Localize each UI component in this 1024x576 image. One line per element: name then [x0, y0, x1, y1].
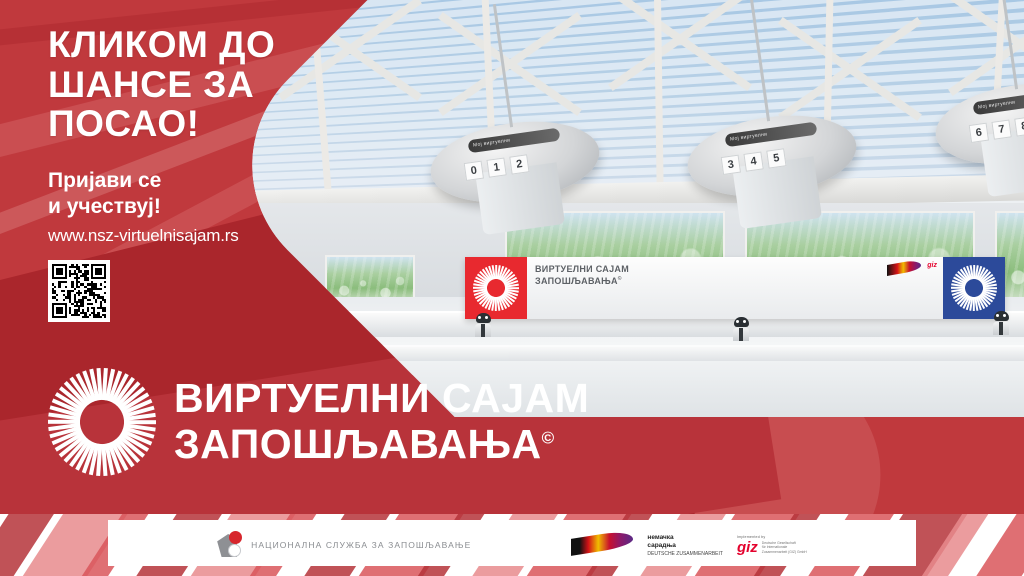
qr-module	[104, 316, 106, 318]
visitor-avatar[interactable]	[993, 311, 1009, 335]
qr-module	[63, 299, 65, 301]
sign-label-text: Мој виртуелни	[467, 128, 559, 150]
qr-module	[84, 292, 86, 294]
banner-partner-logos: giz	[887, 262, 937, 277]
qr-module	[63, 290, 65, 292]
exhibition-banner: ВИРТУЕЛНИ САЈАМ ЗАПОШЉАВАЊА© giz	[465, 257, 1005, 319]
sunburst-icon	[951, 265, 997, 311]
visitor-avatar[interactable]	[733, 317, 749, 341]
brand-name: ВИРТУЕЛНИ САЈАМ ЗАПОШЉАВАЊА©	[174, 376, 589, 468]
qr-module	[65, 316, 67, 318]
qr-code-matrix	[52, 264, 106, 318]
qr-module	[80, 292, 82, 294]
qr-module	[87, 273, 89, 275]
qr-module	[104, 277, 106, 279]
sign-label-text: Мој виртуелни	[972, 90, 1024, 112]
qr-module	[87, 309, 89, 311]
sign-label-text: Мој виртуелни	[724, 122, 816, 144]
banner-center: ВИРТУЕЛНИ САЈАМ ЗАПОШЉАВАЊА© giz	[527, 257, 943, 319]
qr-module	[104, 292, 106, 294]
qr-module	[84, 266, 86, 268]
banner-title: ВИРТУЕЛНИ САЈАМ ЗАПОШЉАВАЊА©	[535, 263, 935, 287]
sunburst-spoke	[951, 287, 965, 289]
qr-module	[61, 312, 63, 314]
sign-number[interactable]: 0	[464, 160, 484, 180]
banner-title-line2: ЗАПОШЉАВАЊА	[535, 276, 618, 286]
headline-line-1: КЛИКОМ ДО	[48, 25, 275, 65]
page-title: КЛИКОМ ДО ШАНСЕ ЗА ПОСАО!	[48, 25, 275, 144]
banner-blue-logo-tile	[943, 257, 1005, 319]
qr-module	[95, 301, 97, 303]
brand-copyright: ©	[542, 428, 555, 447]
subline-line-1: Пријави се	[48, 168, 161, 194]
qr-module	[65, 286, 67, 288]
qr-module	[69, 275, 71, 277]
qr-module	[104, 301, 106, 303]
sign-label-bar: Мој виртуелни	[972, 90, 1024, 116]
sign-number[interactable]: 3	[721, 154, 741, 174]
avatar-head	[475, 313, 490, 323]
qr-module	[78, 277, 80, 279]
sign-number[interactable]: 1	[486, 157, 506, 177]
sign-number[interactable]: 5	[766, 148, 786, 168]
sign-label-bar: Мој виртуелни	[724, 122, 817, 148]
qr-module	[78, 286, 80, 288]
qr-module	[89, 299, 91, 301]
qr-module	[74, 288, 76, 290]
avatar-body	[475, 324, 491, 337]
qr-module	[65, 277, 67, 279]
avatar-head	[994, 311, 1009, 321]
giz-wordmark-row: giz Deutsche Gesellschaft für Internatio…	[737, 540, 807, 555]
qr-module	[89, 314, 91, 316]
qr-module	[78, 294, 80, 296]
qr-module	[65, 281, 67, 283]
qr-module	[104, 309, 106, 311]
qr-module	[56, 294, 58, 296]
giz-wordmark: giz	[737, 540, 758, 555]
brand-lockup: ВИРТУЕЛНИ САЈАМ ЗАПОШЉАВАЊА©	[48, 368, 589, 476]
footer-bar: НАЦИОНАЛНА СЛУЖБА ЗА ЗАПОШЉАВАЊЕ немачка…	[0, 514, 1024, 576]
sunburst-icon	[48, 368, 156, 476]
avatar-head	[734, 317, 749, 327]
poster-root: Мој виртуелни 0 1 2 Мој виртуелни 3 4 5	[0, 0, 1024, 576]
giz-sub-1: Deutsche Gesellschaft	[762, 541, 796, 545]
giz-sub-3: Zusammenarbeit (GIZ) GmbH	[762, 550, 807, 554]
german-cooperation-caption: немачка сарадња DEUTSCHE ZUSAMMENARBEIT	[647, 534, 723, 557]
avatar-body	[993, 322, 1009, 335]
sign-number[interactable]: 7	[991, 119, 1011, 139]
subline-line-2: и учествуј!	[48, 194, 161, 220]
qr-module	[61, 273, 63, 275]
qr-module	[104, 281, 106, 283]
qr-module	[87, 316, 89, 318]
sunburst-spoke	[473, 287, 487, 289]
sunburst-spoke	[48, 420, 80, 424]
sign-number[interactable]: 2	[509, 154, 529, 174]
qr-module	[100, 316, 102, 318]
headline-line-3: ПОСАО!	[48, 104, 275, 144]
brand-line-2-wrap: ЗАПОШЉАВАЊА©	[174, 422, 589, 468]
qr-module	[71, 290, 73, 292]
giz-logo-mini: giz	[927, 262, 937, 269]
qr-module	[54, 286, 56, 288]
sign-number[interactable]: 4	[743, 151, 763, 171]
qr-module	[78, 314, 80, 316]
german-flag-swoosh-icon	[571, 532, 633, 558]
website-url[interactable]: www.nsz-virtuelnisajam.rs	[48, 226, 239, 246]
sunburst-spoke	[495, 297, 497, 311]
nsz-mark-icon	[217, 531, 243, 559]
sunburst-icon	[473, 265, 519, 311]
qr-module	[91, 303, 93, 305]
call-to-action-text: Пријави се и учествуј!	[48, 168, 161, 221]
brand-line-1: ВИРТУЕЛНИ САЈАМ	[174, 376, 589, 422]
qr-module	[100, 273, 102, 275]
german-cooperation-icon	[887, 262, 921, 277]
qr-module	[82, 305, 84, 307]
qr-module	[104, 286, 106, 288]
deu-line-3: DEUTSCHE ZUSAMMENARBEIT	[647, 551, 723, 557]
qr-module	[100, 288, 102, 290]
nsz-logo-text: НАЦИОНАЛНА СЛУЖБА ЗА ЗАПОШЉАВАЊЕ	[251, 540, 471, 550]
giz-sub-2: für Internationale	[762, 545, 787, 549]
qr-code[interactable]	[48, 260, 110, 322]
giz-full-name: Deutsche Gesellschaft für Internationale…	[762, 541, 807, 555]
visitor-avatar[interactable]	[475, 313, 491, 337]
brand-line-2: ЗАПОШЉАВАЊА	[174, 421, 542, 467]
sign-label-bar: Мој виртуелни	[467, 128, 560, 154]
deu-line-2: сарадња	[647, 542, 676, 549]
deu-line-1: немачка	[647, 534, 673, 541]
qr-module	[58, 286, 60, 288]
banner-copyright: ©	[618, 276, 622, 282]
sign-number[interactable]: 8	[1014, 116, 1024, 136]
nsz-logo[interactable]: НАЦИОНАЛНА СЛУЖБА ЗА ЗАПОШЉАВАЊЕ	[217, 531, 471, 559]
qr-module	[56, 299, 58, 301]
banner-red-logo-tile	[465, 257, 527, 319]
qr-module	[87, 264, 89, 266]
qr-module	[100, 283, 102, 285]
headline-line-2: ШАНСЕ ЗА	[48, 65, 275, 105]
qr-module	[87, 279, 89, 281]
sunburst-spoke	[973, 297, 975, 311]
giz-logo: Implemented by giz Deutsche Gesellschaft…	[737, 535, 807, 555]
banner-title-line1: ВИРТУЕЛНИ САЈАМ	[535, 264, 629, 274]
german-cooperation-logo[interactable]: немачка сарадња DEUTSCHE ZUSAMMENARBEIT …	[571, 532, 806, 558]
avatar-body	[733, 328, 749, 341]
sign-number[interactable]: 6	[969, 122, 989, 142]
